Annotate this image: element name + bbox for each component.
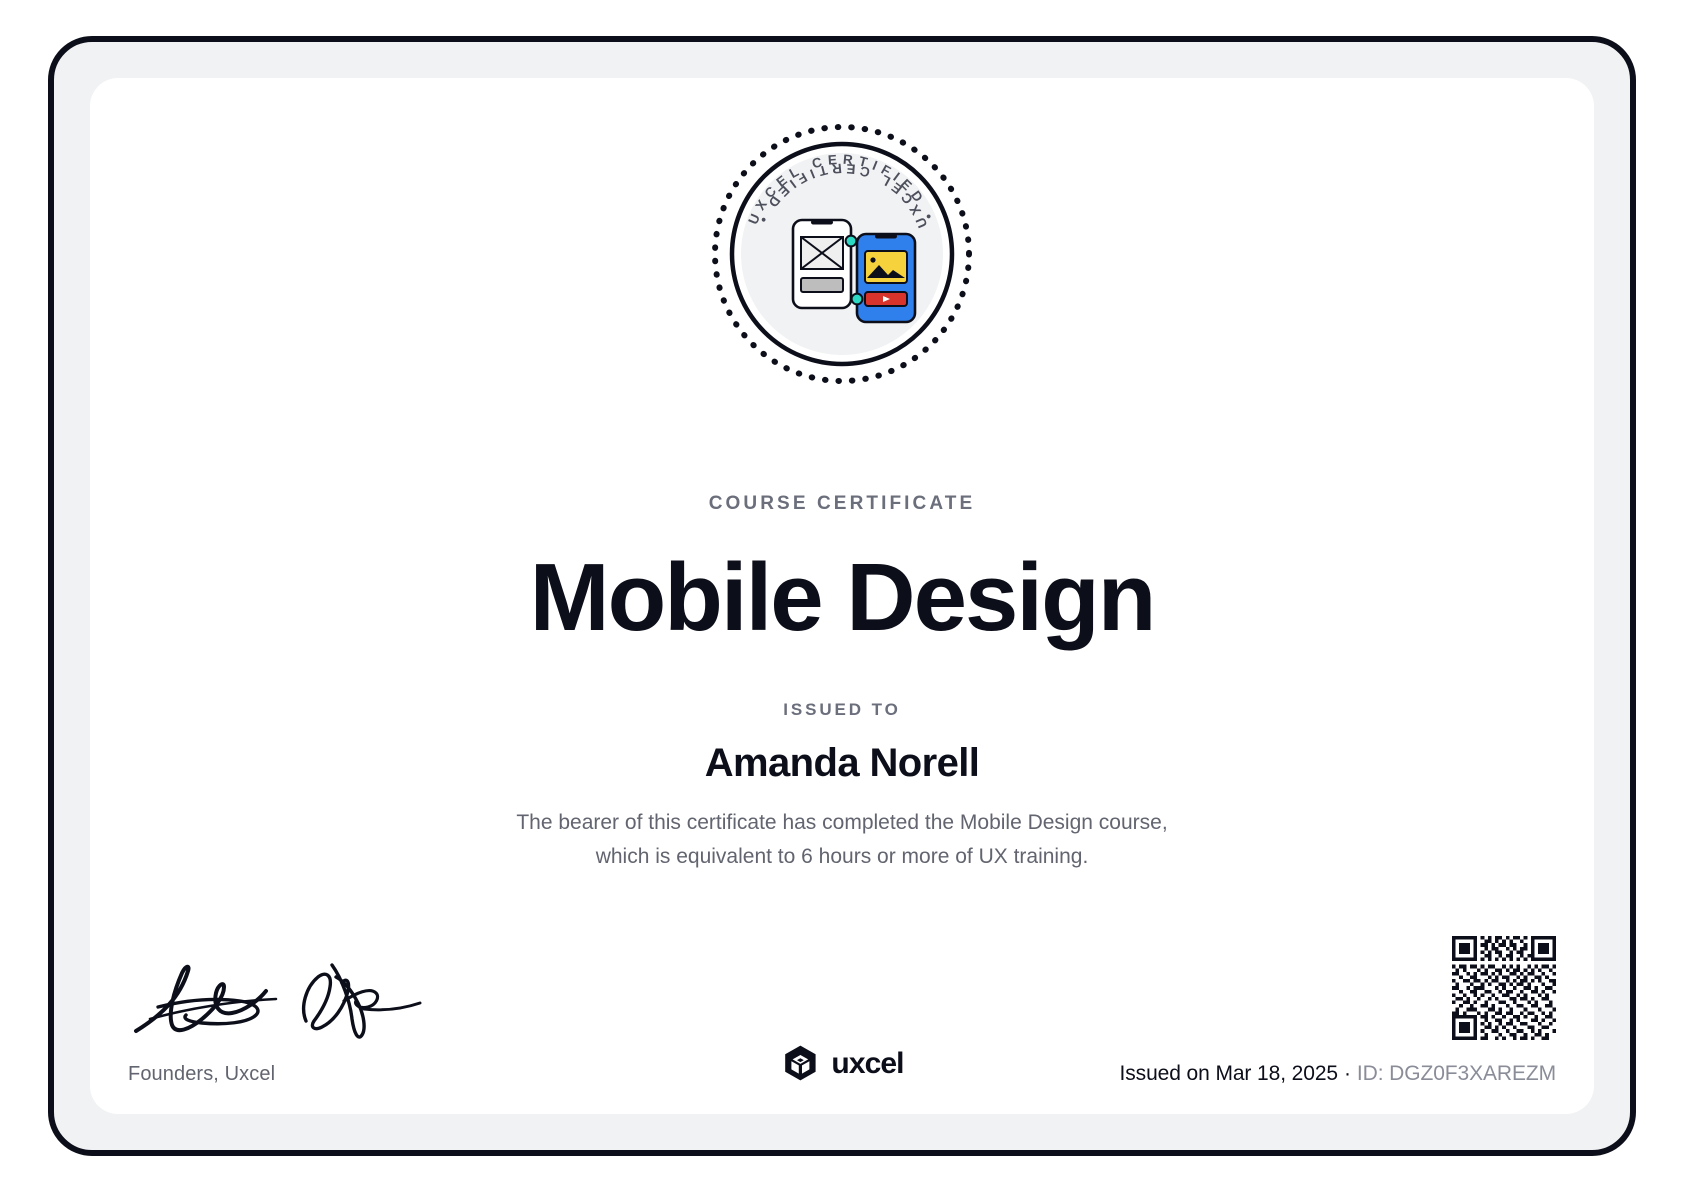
- certificate-description: The bearer of this certificate has compl…: [90, 806, 1594, 874]
- certificate-frame: UXCEL CERTIFIED • UXCEL CERTIFIED •: [48, 36, 1636, 1156]
- certificate-id: ID: DGZ0F3XAREZM: [1357, 1062, 1556, 1085]
- issued-to-eyebrow: ISSUED TO: [90, 700, 1594, 720]
- uxcel-certified-badge-icon: UXCEL CERTIFIED • UXCEL CERTIFIED •: [708, 120, 976, 388]
- signature-area: Founders, Uxcel: [128, 957, 558, 1086]
- issued-on-date: Issued on Mar 18, 2025: [1120, 1062, 1338, 1085]
- recipient-name: Amanda Norell: [90, 741, 1594, 786]
- issue-separator: ·: [1338, 1062, 1357, 1085]
- issue-line: Issued on Mar 18, 2025·ID: DGZ0F3XAREZM: [1120, 1062, 1556, 1086]
- description-line-2: which is equivalent to 6 hours or more o…: [90, 840, 1594, 874]
- founders-label: Founders, Uxcel: [128, 1063, 558, 1086]
- certificate-card: UXCEL CERTIFIED • UXCEL CERTIFIED •: [90, 78, 1594, 1114]
- course-certificate-eyebrow: COURSE CERTIFICATE: [90, 493, 1594, 515]
- uxcel-wordmark: uxcel: [831, 1047, 903, 1081]
- uxcel-brand-logo: uxcel: [780, 1044, 903, 1084]
- issue-info-area: Issued on Mar 18, 2025·ID: DGZ0F3XAREZM: [1120, 936, 1556, 1086]
- qr-code-icon[interactable]: [1452, 936, 1556, 1040]
- qr-code-holder[interactable]: [1120, 936, 1556, 1040]
- certificate-badge: UXCEL CERTIFIED • UXCEL CERTIFIED •: [90, 120, 1594, 388]
- uxcel-cube-logo-icon: [780, 1044, 820, 1084]
- signature-strokes: [128, 957, 428, 1049]
- course-title: Mobile Design: [90, 546, 1594, 650]
- certificate-footer: Founders, Uxcel uxcel: [90, 884, 1594, 1114]
- description-line-1: The bearer of this certificate has compl…: [90, 806, 1594, 840]
- founders-signatures-icon: [128, 957, 558, 1049]
